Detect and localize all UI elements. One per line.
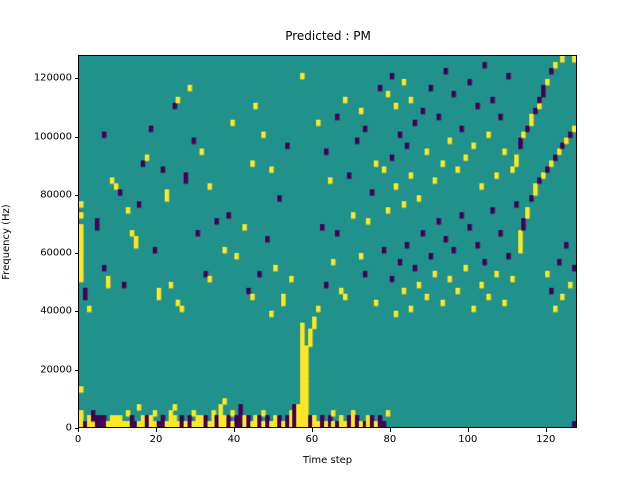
y-tick-mark [75, 195, 79, 196]
y-tick-label: 60000 [3, 248, 72, 259]
x-tick-label: 60 [306, 434, 319, 445]
x-tick-label: 20 [150, 434, 163, 445]
y-tick-mark [75, 311, 79, 312]
y-tick-mark [75, 428, 79, 429]
y-tick-label: 100000 [3, 131, 72, 142]
x-tick-mark [390, 428, 391, 432]
y-tick-label: 40000 [3, 306, 72, 317]
x-tick-mark [468, 428, 469, 432]
x-tick-mark [156, 428, 157, 432]
x-tick-label: 0 [75, 434, 81, 445]
y-tick-mark [75, 137, 79, 138]
x-tick-mark [546, 428, 547, 432]
y-axis-label: Frequency (Hz) [1, 172, 13, 312]
y-tick-mark [75, 78, 79, 79]
y-tick-mark [75, 253, 79, 254]
chart-title: Predicted : PM [78, 29, 578, 43]
y-tick-label: 0 [3, 423, 72, 434]
x-tick-mark [78, 428, 79, 432]
x-tick-label: 40 [228, 434, 241, 445]
y-tick-mark [75, 370, 79, 371]
x-tick-mark [234, 428, 235, 432]
y-tick-label: 120000 [3, 73, 72, 84]
heatmap-axes[interactable] [78, 55, 577, 428]
heatmap-image [79, 56, 576, 427]
x-axis-label: Time step [78, 455, 577, 467]
x-tick-label: 120 [536, 434, 555, 445]
x-tick-mark [312, 428, 313, 432]
y-tick-label: 80000 [3, 189, 72, 200]
figure-canvas: Predicted : PM 020406080100120 020000400… [0, 0, 640, 480]
y-tick-label: 20000 [3, 364, 72, 375]
x-tick-label: 100 [458, 434, 477, 445]
x-tick-label: 80 [384, 434, 397, 445]
